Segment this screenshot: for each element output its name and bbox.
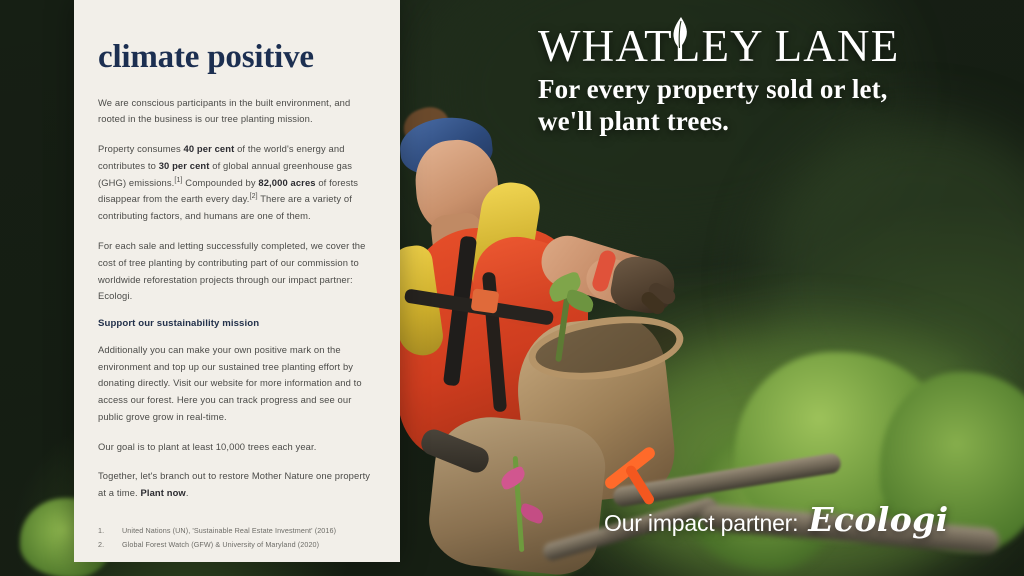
p2-bold-3: 82,000 acres: [258, 177, 315, 188]
harness-buckle: [471, 288, 500, 313]
article-paragraph-4: Additionally you can make your own posit…: [98, 342, 374, 426]
hero-text-block: WHATLEY LANE For every property sold or …: [538, 24, 1008, 138]
article-paragraph-5: Our goal is to plant at least 10,000 tre…: [98, 439, 374, 456]
footnote-text: Global Forest Watch (GFW) & University o…: [122, 538, 319, 552]
footnote-number: 1.: [98, 524, 122, 538]
leaf-sprout-icon: [670, 16, 692, 50]
hero-headline-line-1: For every property sold or let,: [538, 74, 1008, 106]
hero-headline-line-2: we'll plant trees.: [538, 106, 1008, 138]
article-panel: climate positive We are conscious partic…: [74, 0, 400, 562]
impact-partner-lockup: Our impact partner: Ecologi: [604, 500, 949, 539]
p2-bold-2: 30 per cent: [159, 160, 210, 171]
hero-headline: For every property sold or let, we'll pl…: [538, 74, 1008, 138]
article-paragraph-3: For each sale and letting successfully c…: [98, 238, 374, 305]
article-paragraph-6: Together, let's branch out to restore Mo…: [98, 468, 374, 501]
citation-marker-2: [2]: [250, 193, 258, 200]
brand-name: WHATLEY LANE: [538, 21, 899, 71]
campaign-slide: climate positive We are conscious partic…: [0, 0, 1024, 576]
footnote-number: 2.: [98, 538, 122, 552]
footnote-item: 1. United Nations (UN), 'Sustainable Rea…: [98, 524, 374, 538]
footnote-list: 1. United Nations (UN), 'Sustainable Rea…: [98, 524, 374, 551]
p2-text-1: Property consumes: [98, 143, 184, 154]
p2-text-4: Compounded by: [183, 177, 259, 188]
p2-bold-1: 40 per cent: [184, 143, 235, 154]
article-paragraph-2: Property consumes 40 per cent of the wor…: [98, 141, 374, 225]
article-subheading: Support our sustainability mission: [98, 318, 374, 329]
impact-partner-label: Our impact partner:: [604, 510, 798, 537]
article-paragraph-1: We are conscious participants in the bui…: [98, 95, 374, 128]
footnote-item: 2. Global Forest Watch (GFW) & Universit…: [98, 538, 374, 552]
article-title: climate positive: [98, 40, 374, 75]
citation-marker-1: [1]: [174, 177, 182, 184]
p6-text-1: Together, let's branch out to restore Mo…: [98, 470, 370, 498]
p6-text-2: .: [186, 487, 189, 498]
brand-wordmark: WHATLEY LANE: [538, 24, 1008, 70]
footnote-text: United Nations (UN), 'Sustainable Real E…: [122, 524, 336, 538]
work-glove: [608, 253, 678, 317]
ecologi-logo: Ecologi: [808, 500, 948, 539]
plant-now-link[interactable]: Plant now: [140, 487, 185, 498]
